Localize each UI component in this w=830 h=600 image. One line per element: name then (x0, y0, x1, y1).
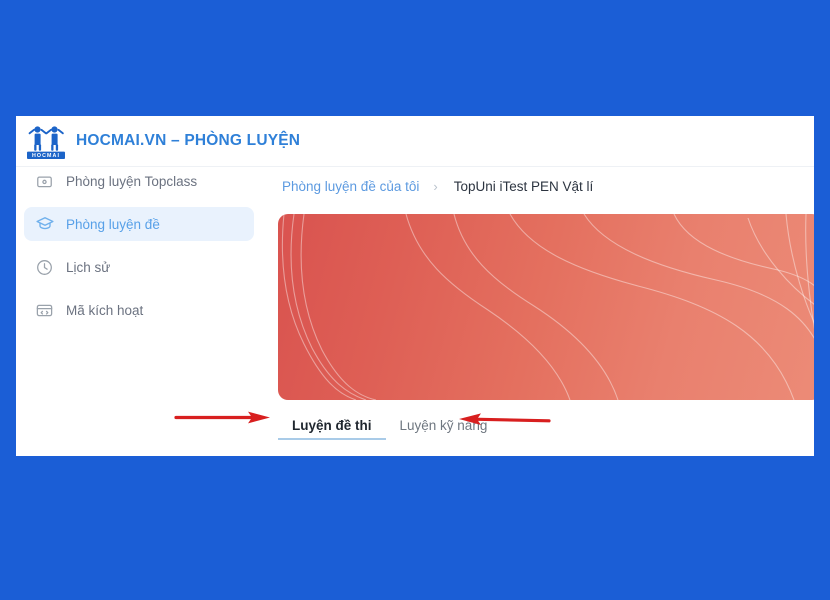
content-tabs: Luyện đề thi Luyện kỹ năng (278, 406, 501, 440)
breadcrumb-current: TopUni iTest PEN Vật lí (454, 179, 594, 194)
breadcrumb-separator-icon: › (433, 179, 437, 194)
tab-luyen-de-thi[interactable]: Luyện đề thi (278, 418, 386, 440)
sidebar-item-lich-su[interactable]: Lịch sử (24, 250, 254, 284)
sidebar-item-phong-luyen-topclass[interactable]: Phòng luyện Topclass (24, 164, 254, 198)
sidebar-item-label: Phòng luyện Topclass (66, 174, 197, 189)
course-hero-banner[interactable] (278, 214, 814, 400)
application-card: Phòng luyện Topclass Phòng luyện đề Lịch… (16, 116, 814, 456)
banner-curve-decoration (278, 214, 814, 400)
sidebar-item-label: Lịch sử (66, 260, 110, 275)
breadcrumb-parent-link[interactable]: Phòng luyện đề của tôi (282, 179, 419, 194)
tab-label: Luyện kỹ năng (400, 418, 488, 433)
graduation-cap-icon (34, 214, 55, 235)
tab-luyen-ky-nang[interactable]: Luyện kỹ năng (386, 418, 502, 440)
breadcrumb: Phòng luyện đề của tôi › TopUni iTest PE… (262, 167, 814, 205)
sidebar-navigation: Phòng luyện Topclass Phòng luyện đề Lịch… (16, 156, 262, 456)
sidebar-item-label: Phòng luyện đề (66, 217, 160, 232)
tab-label: Luyện đề thi (292, 418, 372, 433)
mortarboard-box-icon (34, 171, 55, 192)
sidebar-item-ma-kich-hoat[interactable]: Mã kích hoạt (24, 293, 254, 327)
banner-gradient (278, 214, 814, 400)
hocmai-logo-icon: HOCMAI (24, 122, 70, 160)
sidebar-item-phong-luyen-de[interactable]: Phòng luyện đề (24, 207, 254, 241)
clock-icon (34, 257, 55, 278)
hocmai-wordmark: HOCMAI (32, 153, 60, 159)
app-header: HOCMAI HOCMAI.VN – PHÒNG LUYỆN (16, 116, 814, 167)
page-title: HOCMAI.VN – PHÒNG LUYỆN (76, 132, 300, 150)
sidebar-item-label: Mã kích hoạt (66, 303, 143, 318)
activation-card-icon (34, 300, 55, 321)
